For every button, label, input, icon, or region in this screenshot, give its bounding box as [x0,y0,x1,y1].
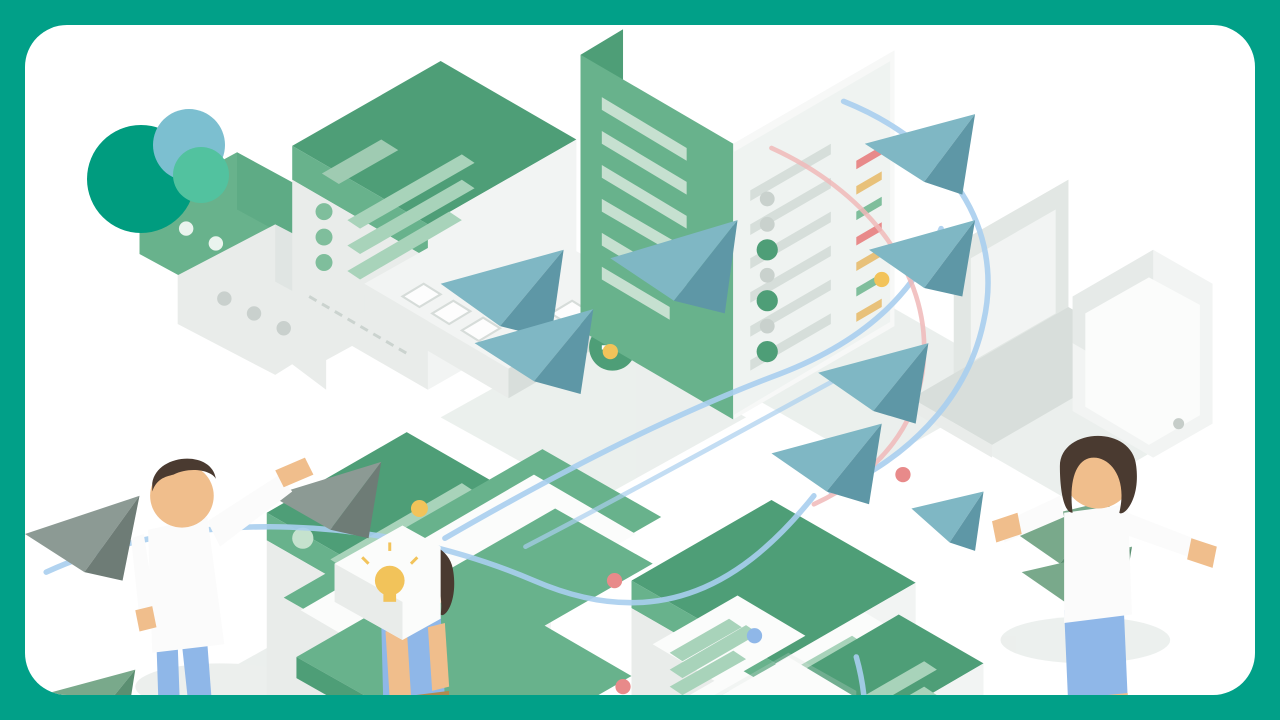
slide-root: .gD{fill:#4E9E77}.gM{fill:#68B28C}.gL{fi… [0,0,1280,720]
white-content-panel: .gD{fill:#4E9E77}.gM{fill:#68B28C}.gL{fi… [25,25,1255,695]
circle-green [173,147,229,203]
